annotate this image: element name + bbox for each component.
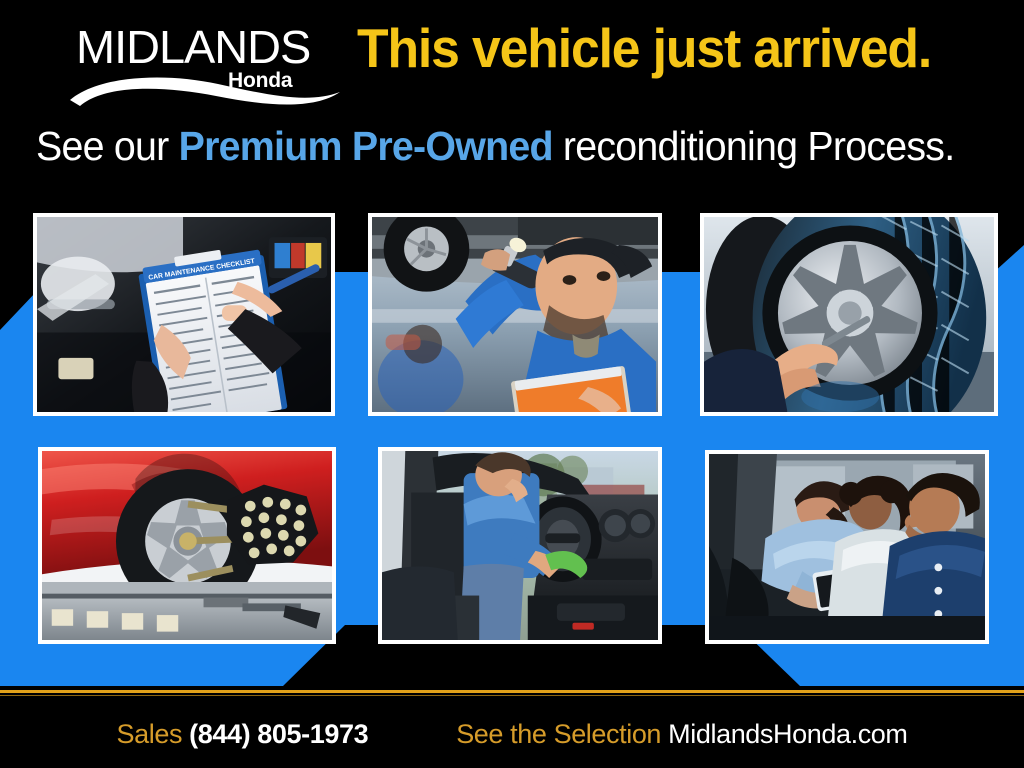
photo-wheel-alignment [38, 447, 336, 644]
footer-selection-label: See the Selection [456, 719, 661, 749]
header: MIDLANDS Honda This vehicle just arrived… [0, 0, 1024, 200]
footer-divider-shadow [0, 695, 1024, 696]
photo-wheel-inspection-image [704, 217, 994, 412]
subheadline-prefix: See our [36, 123, 179, 169]
photo-undercarriage-image [372, 217, 658, 412]
photo-wheel-inspection [700, 213, 998, 416]
footer-sales-label: Sales [117, 719, 183, 749]
subheadline-suffix: reconditioning Process. [553, 123, 955, 169]
photo-undercarriage [368, 213, 662, 416]
subheadline: See our Premium Pre-Owned reconditioning… [36, 126, 954, 167]
footer-selection-block: See the Selection MidlandsHonda.com [456, 721, 907, 748]
photo-wheel-alignment-image [42, 451, 332, 640]
advertisement-banner: MIDLANDS Honda This vehicle just arrived… [0, 0, 1024, 768]
photo-delivery [705, 450, 989, 644]
photo-interior-detail-image [382, 451, 658, 640]
footer-website[interactable]: MidlandsHonda.com [668, 719, 907, 749]
photo-interior-detail [378, 447, 662, 644]
footer-sales-block: Sales (844) 805-1973 [117, 721, 369, 748]
footer: Sales (844) 805-1973 See the Selection M… [0, 700, 1024, 768]
photo-delivery-image [709, 454, 985, 640]
photo-checklist-image: CAR MAINTENANCE CHECKLIST [37, 217, 331, 412]
swoosh-icon [68, 70, 343, 112]
subheadline-highlight: Premium Pre-Owned [179, 123, 553, 169]
brand-logo: MIDLANDS Honda [68, 22, 343, 102]
logo-wordmark: MIDLANDS [76, 20, 310, 74]
footer-divider-gold [0, 690, 1024, 693]
headline: This vehicle just arrived. [357, 21, 931, 76]
photo-checklist: CAR MAINTENANCE CHECKLIST [33, 213, 335, 416]
footer-phone[interactable]: (844) 805-1973 [189, 719, 368, 749]
